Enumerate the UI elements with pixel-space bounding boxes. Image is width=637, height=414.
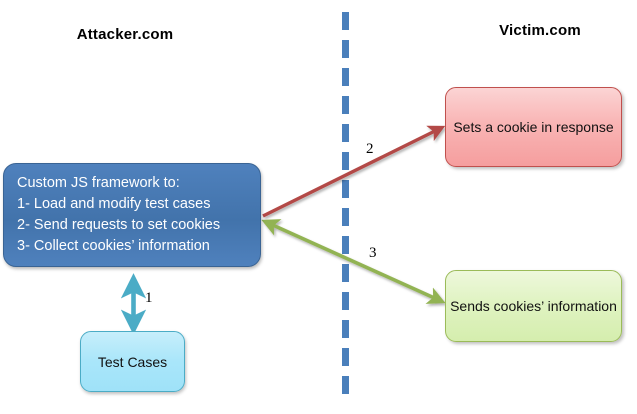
diagram-canvas: Attacker.com Victim.com <box>0 0 637 414</box>
framework-box-text: Custom JS framework to: 1- Load and modi… <box>17 173 220 257</box>
arrow-2-label: 2 <box>366 141 374 158</box>
arrow-1-label: 1 <box>145 290 153 307</box>
sends-cookies-box[interactable]: Sends cookies’ information <box>445 270 622 342</box>
test-cases-box[interactable]: Test Cases <box>80 331 185 392</box>
sets-cookie-box[interactable]: Sets a cookie in response <box>445 87 622 167</box>
test-cases-label: Test Cases <box>98 354 167 370</box>
arrow-2-set-cookie <box>263 128 441 216</box>
sets-cookie-label: Sets a cookie in response <box>453 117 613 137</box>
arrow-3-label: 3 <box>369 245 377 262</box>
sends-cookies-label: Sends cookies’ information <box>450 296 617 316</box>
custom-js-framework-box[interactable]: Custom JS framework to: 1- Load and modi… <box>3 163 261 267</box>
arrow-3-send-cookies <box>266 222 441 301</box>
